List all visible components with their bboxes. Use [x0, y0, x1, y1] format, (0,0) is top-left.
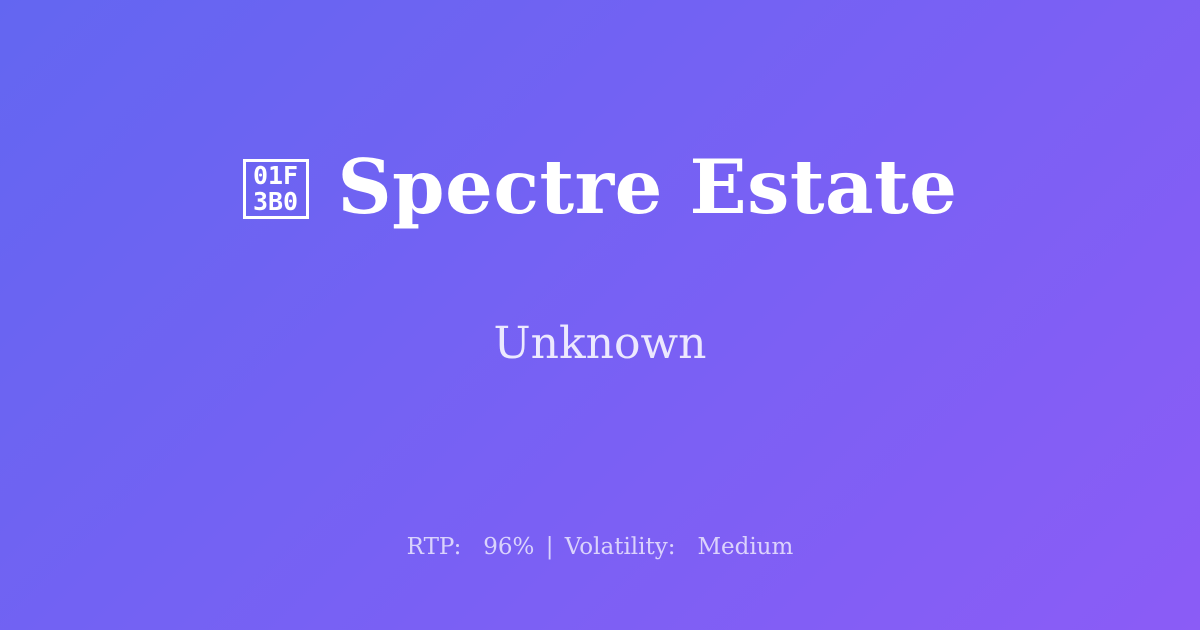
hero-block: 01F 3B0 Spectre Estate Unknown	[0, 0, 1200, 466]
rtp-value: 96%	[483, 534, 534, 560]
stats-separator: |	[542, 534, 558, 560]
game-stats-line: RTP: 96% | Volatility: Medium	[0, 532, 1200, 562]
og-preview-card: 01F 3B0 Spectre Estate Unknown RTP: 96% …	[0, 0, 1200, 630]
hexbox-top-row: 01F	[253, 163, 298, 189]
slot-machine-icon: 01F 3B0	[243, 159, 309, 219]
rtp-label: RTP:	[407, 534, 462, 560]
page-title: Spectre Estate	[338, 146, 958, 228]
page-subtitle: Unknown	[494, 318, 707, 370]
hexbox-bottom-row: 3B0	[253, 189, 298, 215]
volatility-label: Volatility:	[565, 534, 676, 560]
volatility-value: Medium	[697, 534, 793, 560]
title-row: 01F 3B0 Spectre Estate	[243, 96, 958, 279]
